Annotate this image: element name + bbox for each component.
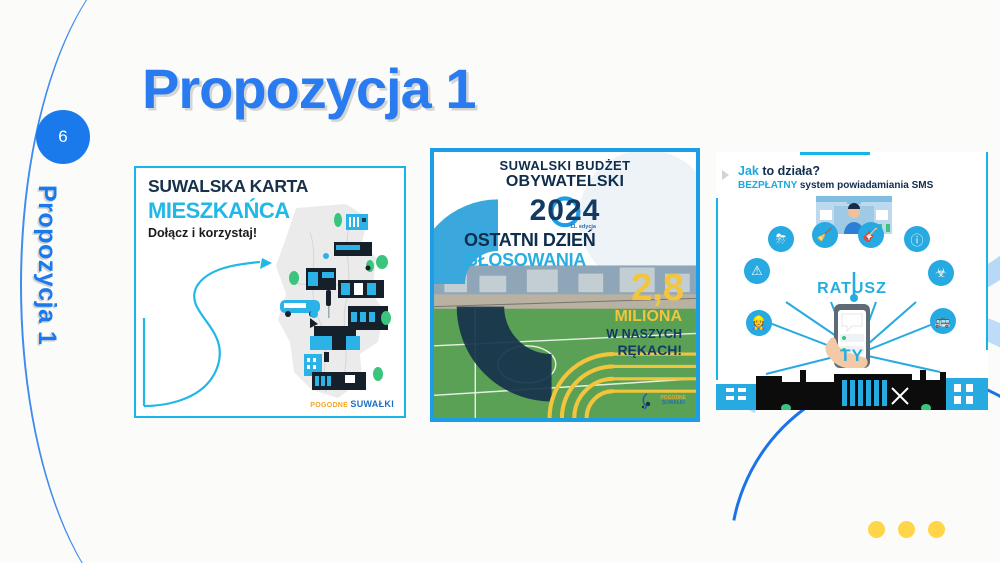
sidebar-vertical-label: Propozycja 1 [32, 185, 61, 345]
card3-node-top-label: RATUSZ [716, 280, 988, 298]
card2-year: 2024 [434, 194, 696, 228]
card2-amount-note2: RĘKACH! [617, 342, 682, 358]
card1-subtitle: Dołącz i korzystaj! [148, 226, 257, 240]
page-title: Propozycja 1 [142, 56, 475, 121]
guitar-icon: 🎸 [858, 222, 884, 248]
card3-sub-highlight: BEZPŁATNY [738, 180, 797, 191]
card3-subheading: BEZPŁATNY system powiadamiania SMS [738, 180, 933, 191]
dot-2 [898, 521, 915, 538]
card3-sub-rest: system powiadamiania SMS [797, 180, 933, 191]
bus-icon: 🚌 [930, 308, 956, 334]
card2-logo: POGODNE SUWAŁKI [660, 396, 686, 407]
card-suwalska-karta[interactable]: SUWALSKA KARTA MIESZKAŃCA Dołącz i korzy… [134, 166, 406, 418]
snow-plow-icon: 🧹 [812, 222, 838, 248]
card2-logos: POGODNE SUWAŁKI [639, 392, 686, 410]
worker-icon: 👷 [746, 310, 772, 336]
city-skyline [716, 370, 988, 410]
card1-heading-line1: SUWALSKA KARTA [148, 176, 308, 197]
card2-logo-part2: SUWAŁKI [662, 400, 685, 406]
dot-1 [868, 521, 885, 538]
card2-headline-line2: GŁOSOWANIA [464, 250, 726, 271]
card3-heading-highlight: Jak [738, 164, 759, 178]
card-system-sms[interactable]: Jak to działa? BEZPŁATNY system powiadam… [716, 152, 988, 410]
card2-emblem-icon [639, 392, 655, 410]
sidebar: 6 Propozycja 1 [0, 0, 100, 563]
slide-number-badge: 6 [36, 110, 90, 164]
dot-3 [928, 521, 945, 538]
decorative-dots [868, 521, 945, 538]
storm-icon: ⛈ [768, 226, 794, 252]
card2-amount-unit: MILIONA [614, 308, 682, 326]
card3-heading: Jak to działa? [738, 164, 820, 178]
card1-logo: POGODNE SUWAŁKI [310, 399, 394, 409]
card3-node-bottom-label: TY [716, 346, 988, 366]
card2-heading-line2: OBYWATELSKI [434, 173, 696, 191]
card2-amount: 2,8 [631, 270, 684, 306]
card1-logo-part1: POGODNE [310, 402, 348, 409]
card3-triangle-marker [722, 170, 729, 180]
card3-diagram [716, 194, 988, 410]
card2-heading-line1: SUWALSKI BUDŻET [434, 158, 696, 173]
slide-root: 6 Propozycja 1 Propozycja 1 SUWALSKA KAR… [0, 0, 1000, 563]
info-icon: ⓘ [904, 226, 930, 252]
card3-heading-rest: to działa? [759, 164, 820, 178]
card1-city-map-illustration [250, 202, 400, 402]
card1-logo-part2: SUWAŁKI [350, 399, 394, 409]
card2-headline-line1: OSTATNI DZIEŃ [464, 230, 726, 251]
card2-amount-note1: W NASZYCH [606, 327, 682, 341]
card-budzet-obywatelski[interactable]: SUWALSKI BUDŻET OBYWATELSKI 2024 11. edy… [430, 148, 700, 422]
card3-top-edge [800, 152, 870, 155]
